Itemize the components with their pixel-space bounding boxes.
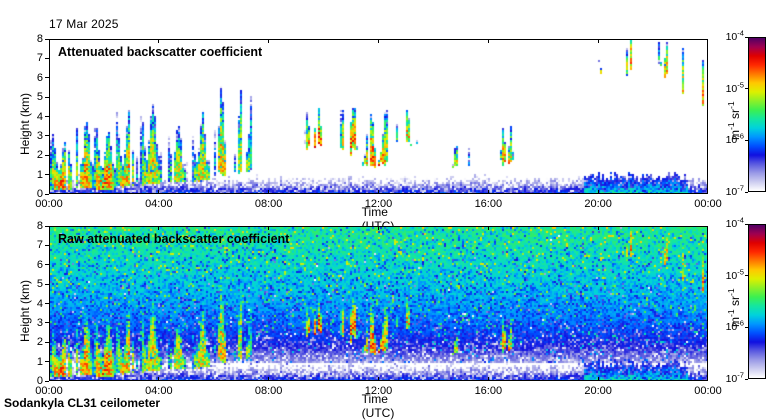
y-tick [45, 116, 49, 117]
y-tick [45, 77, 49, 78]
y-tick-label: 7 [27, 52, 43, 64]
colorbar-tick [745, 379, 748, 380]
x-tick-label: 00:00 [694, 198, 722, 210]
y-tick [45, 174, 49, 175]
y-tick [45, 303, 49, 304]
plot-area-attenuated[interactable]: Attenuated backscatter coefficient [49, 39, 708, 194]
x-tick [158, 190, 159, 194]
x-tick [268, 377, 269, 381]
y-tick-label: 8 [27, 33, 43, 45]
x-tick-label: 12:00 [365, 198, 393, 210]
y-tick-label: 2 [27, 336, 43, 348]
colorbar-tick-label: 10-7 [706, 373, 744, 385]
colorbar-tick [745, 275, 748, 276]
colorbar-gradient-raw [748, 224, 766, 379]
x-tick [378, 190, 379, 194]
x-tick-top [268, 226, 269, 230]
x-tick [488, 190, 489, 194]
colorbar-gradient-attenuated [748, 37, 766, 192]
colorbar-tick-label: 10-7 [706, 186, 744, 198]
station-label: Sodankyla CL31 ceilometer [4, 396, 160, 410]
x-tick-top [158, 39, 159, 43]
x-tick [598, 190, 599, 194]
x-tick-label: 04:00 [145, 198, 173, 210]
y-tick-label: 6 [27, 72, 43, 84]
x-tick [488, 377, 489, 381]
y-tick [45, 58, 49, 59]
colorbar-tick-label: 10-4 [706, 31, 744, 43]
y-tick [45, 361, 49, 362]
colorbar-tick-label: 10-6 [706, 134, 744, 146]
x-tick [268, 190, 269, 194]
x-tick [378, 377, 379, 381]
x-tick-label: 20:00 [584, 385, 612, 397]
heatmap-canvas-raw [50, 227, 707, 380]
y-tick [45, 39, 49, 40]
y-tick [45, 194, 49, 195]
y-tick [45, 245, 49, 246]
y-tick-label: 7 [27, 239, 43, 251]
x-tick [158, 377, 159, 381]
y-tick [45, 226, 49, 227]
y-tick [45, 155, 49, 156]
y-tick-label: 1 [27, 169, 43, 181]
x-tick-label: 00:00 [694, 385, 722, 397]
colorbar-tick [745, 192, 748, 193]
colorbar-tick-label: 10-5 [706, 83, 744, 95]
panel-title-attenuated: Attenuated backscatter coefficient [58, 45, 262, 59]
x-tick-top [158, 226, 159, 230]
y-tick-label: 4 [27, 111, 43, 123]
y-tick-label: 2 [27, 149, 43, 161]
x-tick-top [378, 226, 379, 230]
y-tick [45, 284, 49, 285]
y-tick-label: 1 [27, 356, 43, 368]
colorbar-tick [745, 37, 748, 38]
colorbar-tick-label: 10-5 [706, 270, 744, 282]
x-tick-label: 00:00 [35, 198, 63, 210]
x-tick-label: 08:00 [255, 198, 283, 210]
plot-area-raw[interactable]: Raw attenuated backscatter coefficient [49, 226, 708, 381]
y-tick [45, 97, 49, 98]
x-tick-top [378, 39, 379, 43]
y-tick-label: 4 [27, 298, 43, 310]
x-tick-top [598, 39, 599, 43]
y-tick [45, 322, 49, 323]
colorbar-tick-label: 10-4 [706, 218, 744, 230]
x-tick-top [268, 39, 269, 43]
colorbar-tick-label: 10-6 [706, 321, 744, 333]
colorbar-tick [745, 88, 748, 89]
y-tick-label: 3 [27, 317, 43, 329]
colorbar-tick [745, 140, 748, 141]
colorbar-tick [745, 224, 748, 225]
y-tick-label: 5 [27, 91, 43, 103]
y-tick-label: 3 [27, 130, 43, 142]
y-tick [45, 342, 49, 343]
x-tick-label: 00:00 [35, 385, 63, 397]
y-tick-label: 8 [27, 220, 43, 232]
x-tick-top [488, 39, 489, 43]
y-tick-label: 6 [27, 259, 43, 271]
y-tick [45, 381, 49, 382]
x-tick [598, 377, 599, 381]
x-tick-top [488, 226, 489, 230]
x-tick-label: 16:00 [475, 198, 503, 210]
heatmap-canvas-attenuated [50, 40, 707, 193]
y-tick [45, 135, 49, 136]
y-tick-label: 5 [27, 278, 43, 290]
panel-title-raw: Raw attenuated backscatter coefficient [58, 232, 289, 246]
x-tick-label: 20:00 [584, 198, 612, 210]
date-label: 17 Mar 2025 [49, 17, 119, 31]
x-tick-top [598, 226, 599, 230]
colorbar-tick [745, 327, 748, 328]
x-tick-label: 16:00 [475, 385, 503, 397]
y-tick [45, 264, 49, 265]
x-tick-label: 04:00 [145, 385, 173, 397]
x-tick-label: 08:00 [255, 385, 283, 397]
x-tick-label: 12:00 [365, 385, 393, 397]
